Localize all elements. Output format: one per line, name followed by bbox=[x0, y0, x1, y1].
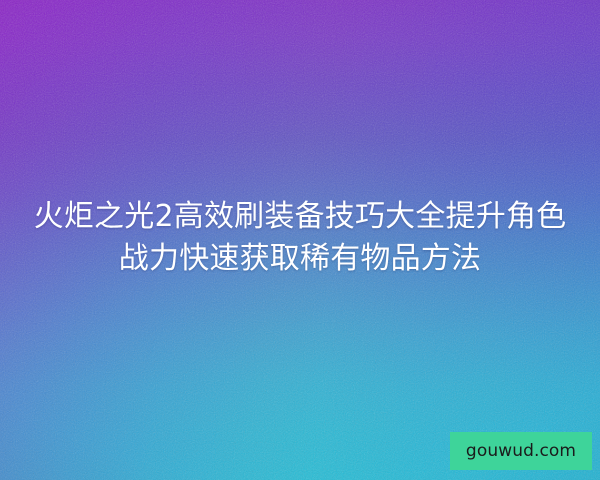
promo-banner: 火炬之光2高效刷装备技巧大全提升角色 战力快速获取稀有物品方法 gouwud.c… bbox=[0, 0, 600, 480]
page-title-line-1: 火炬之光2高效刷装备技巧大全提升角色 bbox=[22, 196, 578, 238]
page-title-line-2: 战力快速获取稀有物品方法 bbox=[22, 238, 578, 280]
watermark-badge: gouwud.com bbox=[450, 432, 592, 470]
watermark-label: gouwud.com bbox=[466, 443, 576, 460]
page-title: 火炬之光2高效刷装备技巧大全提升角色 战力快速获取稀有物品方法 bbox=[0, 196, 600, 280]
